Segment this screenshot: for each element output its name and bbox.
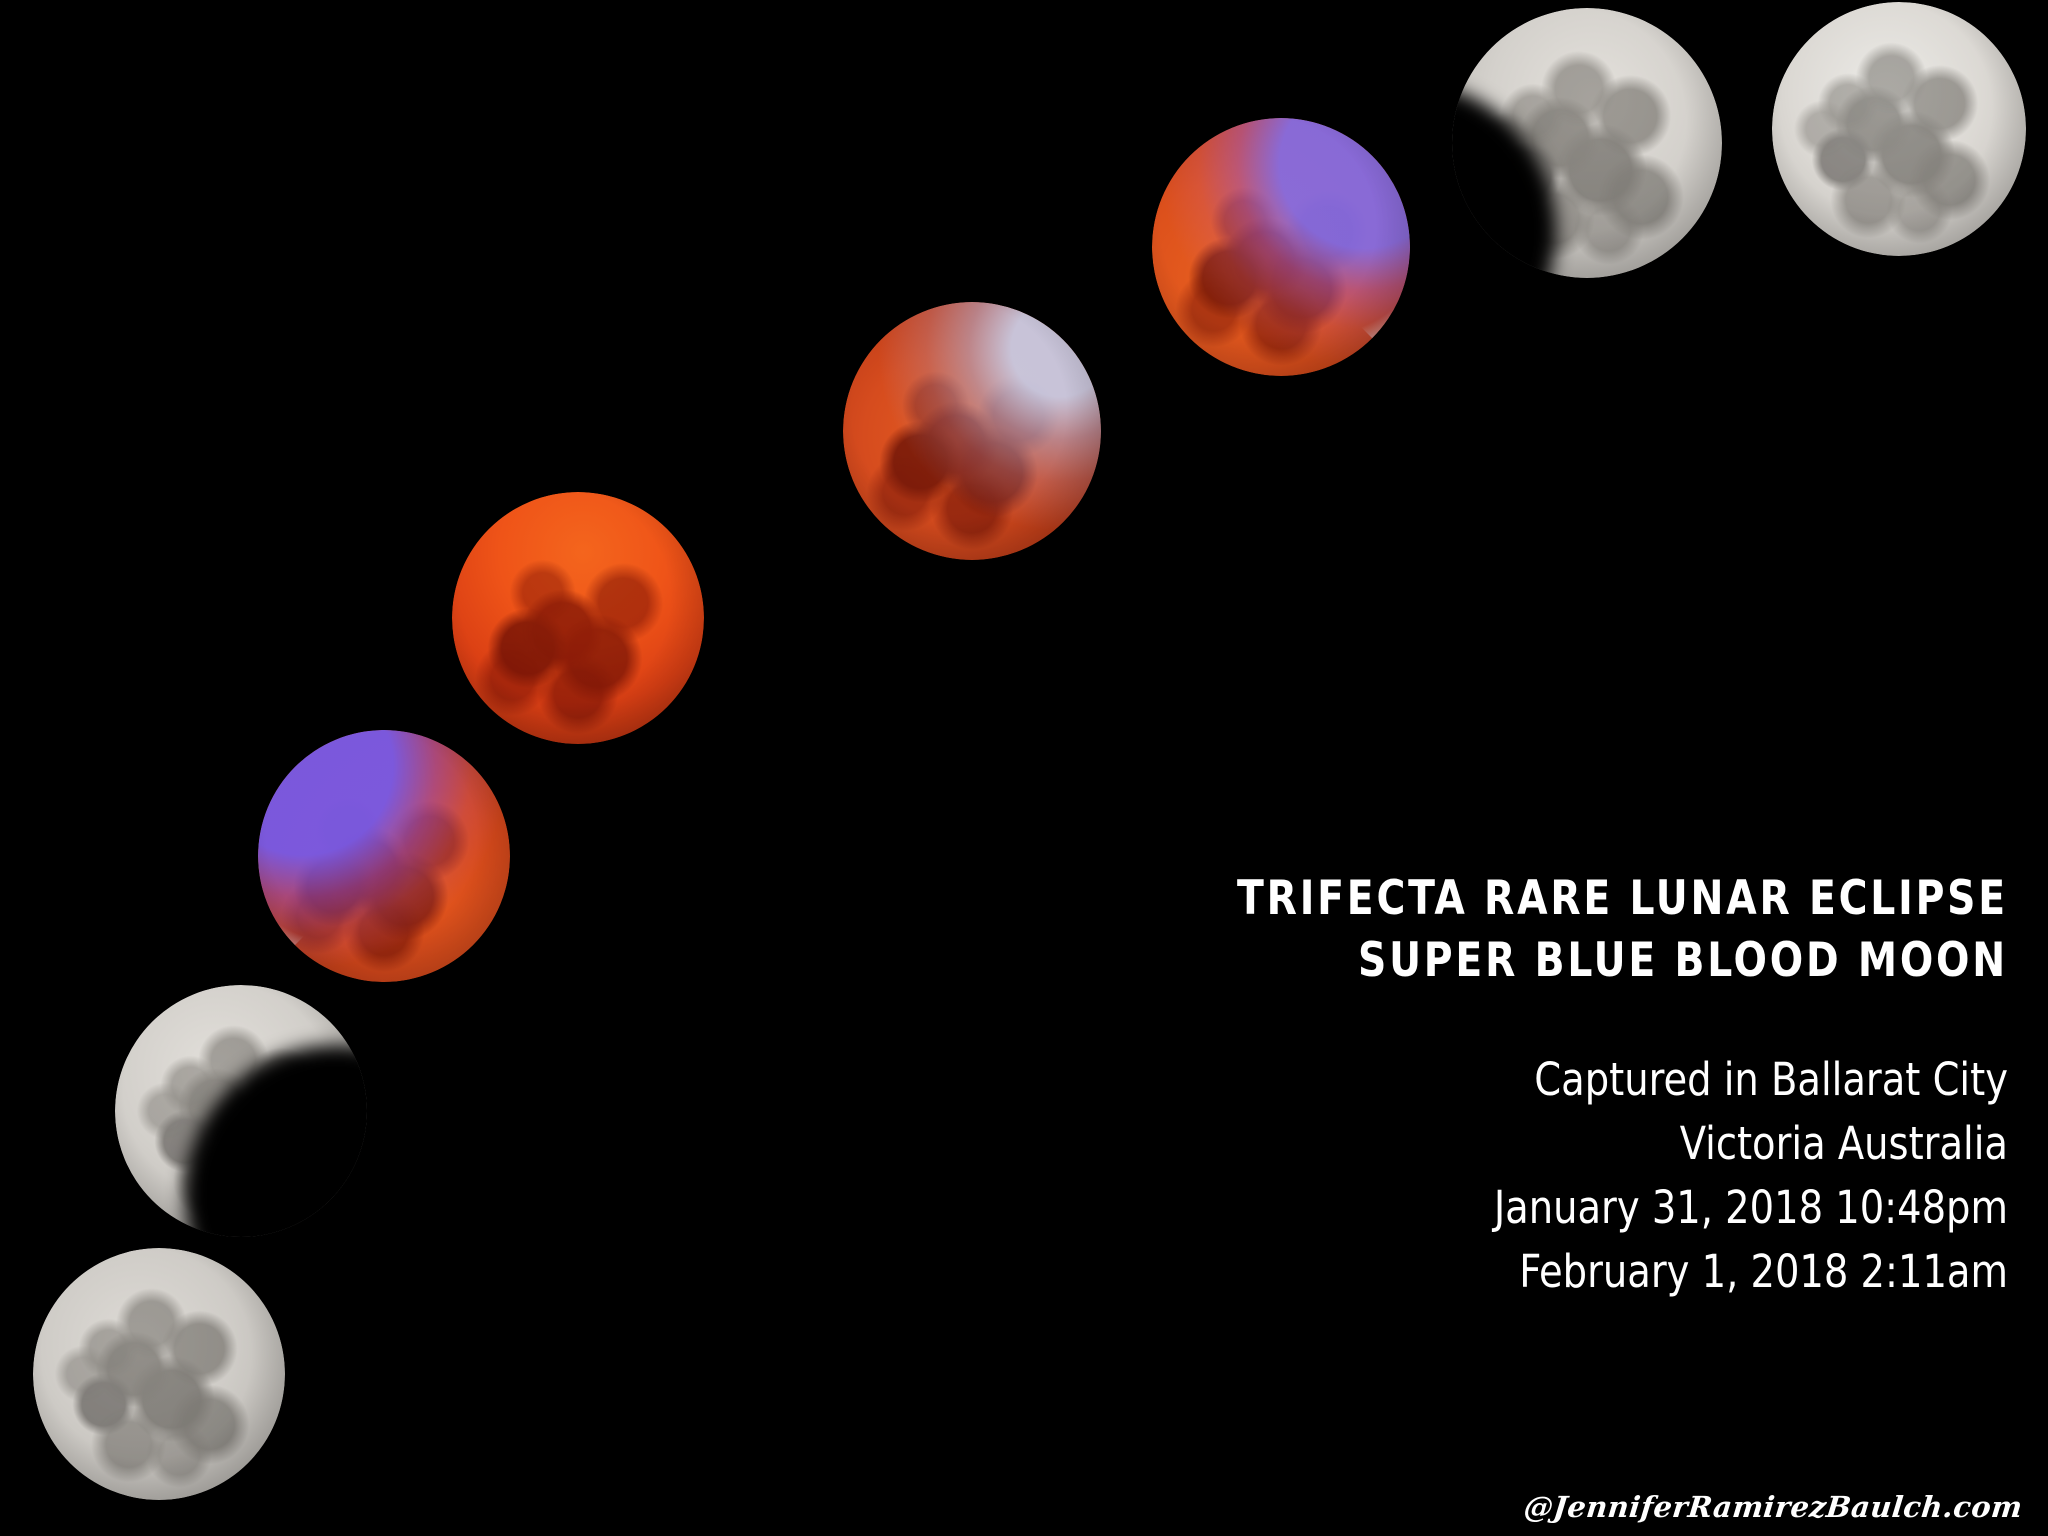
moon-partial-eclipse-crescent-left <box>258 730 510 982</box>
eclipse-poster: TRIFECTA RARE LUNAR ECLIPSE SUPER BLUE B… <box>0 0 2048 1536</box>
moon-limb-shading <box>843 302 1101 560</box>
info-line-location-state: Victoria Australia <box>1220 1112 2008 1176</box>
caption-block: TRIFECTA RARE LUNAR ECLIPSE SUPER BLUE B… <box>1179 868 2008 1304</box>
moon-limb-shading <box>258 730 510 982</box>
moon-partial-eclipse-grey-entering <box>115 985 367 1237</box>
moon-limb-shading <box>1772 2 2026 256</box>
moon-full-moon-uneclipsed <box>33 1248 285 1500</box>
moon-total-eclipse-red-blue-limb <box>843 302 1101 560</box>
moon-limb-shading <box>33 1248 285 1500</box>
caption-spacer <box>1179 992 2008 1048</box>
moon-limb-shading <box>452 492 704 744</box>
moon-limb-shading <box>1452 8 1722 278</box>
moon-partial-eclipse-crescent-right <box>1152 118 1410 376</box>
info-line-end-datetime: February 1, 2018 2:11am <box>1220 1240 2008 1304</box>
info-line-location-city: Captured in Ballarat City <box>1220 1048 2008 1112</box>
moon-partial-eclipse-grey-leaving <box>1452 8 1722 278</box>
moon-limb-shading <box>115 985 367 1237</box>
title-line-1: TRIFECTA RARE LUNAR ECLIPSE <box>1237 868 2008 930</box>
photographer-signature-watermark: @JenniferRamirezBaulch.com <box>1522 1490 2024 1524</box>
moon-limb-shading <box>1152 118 1410 376</box>
info-line-start-datetime: January 31, 2018 10:48pm <box>1220 1176 2008 1240</box>
moon-full-moon-after-eclipse <box>1772 2 2026 256</box>
title-line-2: SUPER BLUE BLOOD MOON <box>1237 930 2008 992</box>
moon-total-eclipse-blood-moon <box>452 492 704 744</box>
